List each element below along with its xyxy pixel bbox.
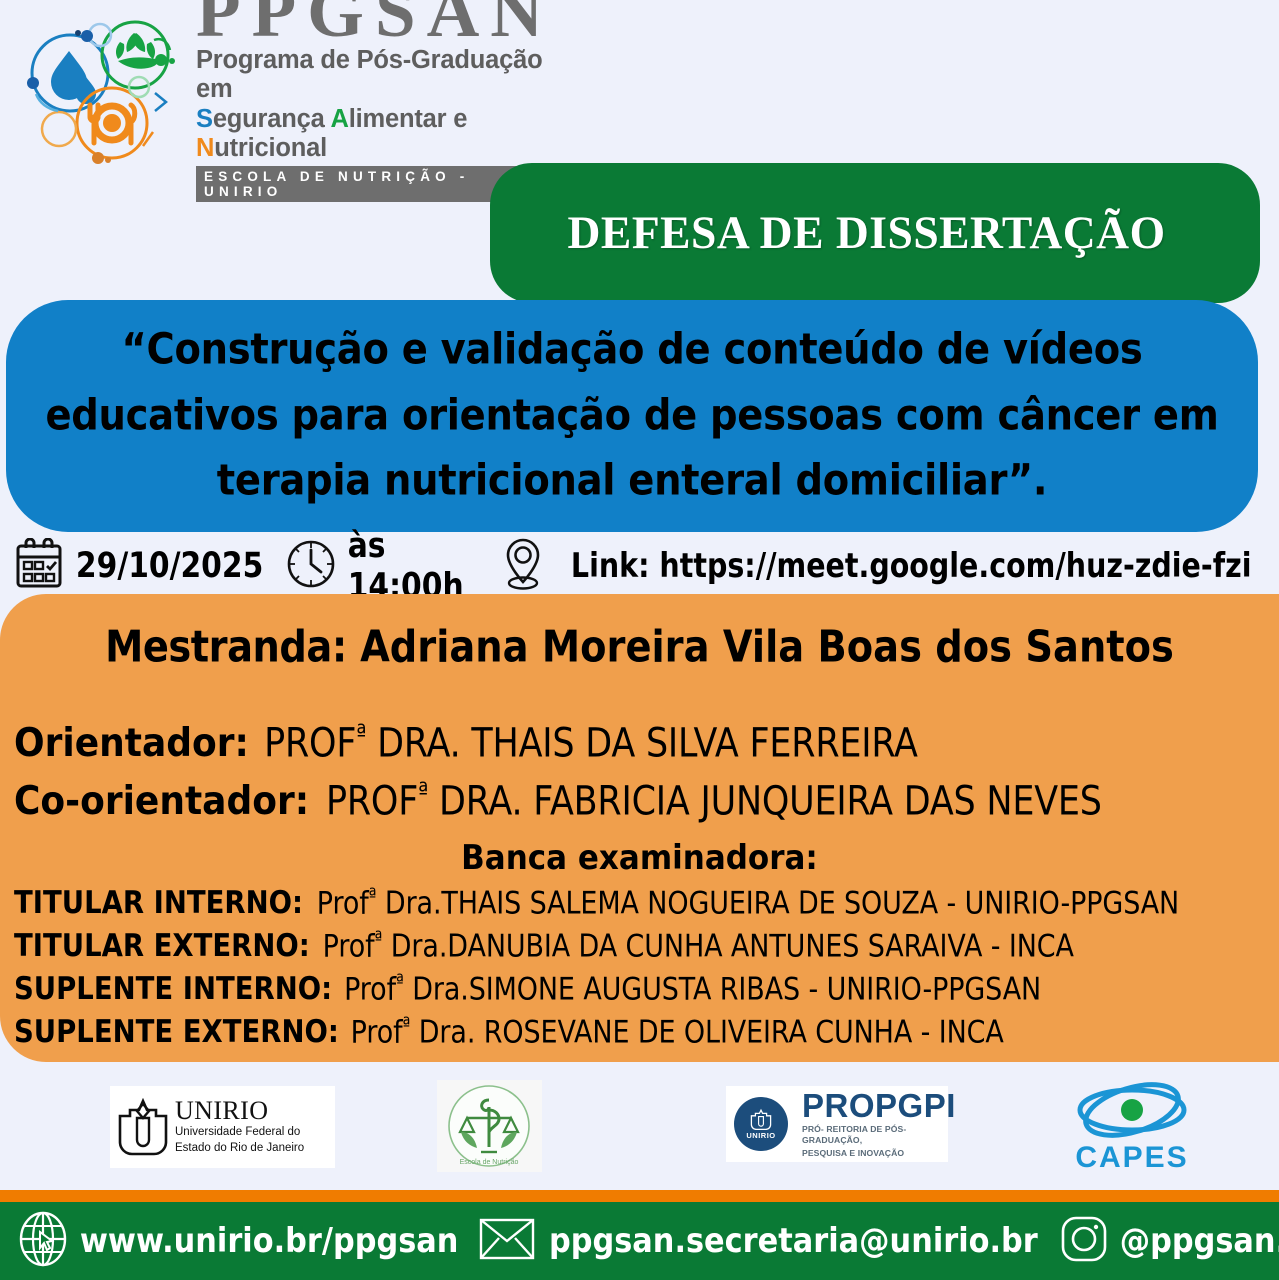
website-url[interactable]: www.unirio.br/ppgsan (80, 1222, 459, 1261)
ppgsan-line2: Segurança Alimentar e Nutricional (196, 105, 554, 164)
capes-emblem-icon (1062, 1080, 1202, 1140)
instagram-icon (1059, 1213, 1109, 1270)
committee-member-row: TITULAR INTERNO: Profª Dra.THAIS SALEMA … (14, 887, 1269, 919)
globe-icon (16, 1210, 70, 1273)
co-advisor-label: Co-orientador: (14, 779, 309, 824)
date-group: 29/10/2025 (14, 538, 267, 595)
unirio-sub2: Estado do Rio de Janeiro (175, 1142, 304, 1156)
capes-logo: CAPES (1062, 1080, 1202, 1172)
unirio-sub1: Universidade Federal do (175, 1126, 304, 1140)
envelope-icon (478, 1215, 536, 1268)
unirio-name: UNIRIO (175, 1098, 304, 1124)
committee-role-label: SUPLENTE INTERNO: (14, 971, 332, 1007)
ppgsan-acronym: PPGSAN (196, 0, 554, 46)
svg-text:Escola de Nutrição: Escola de Nutrição (460, 1159, 519, 1166)
instagram-handle[interactable]: @ppgsan.unirio (1120, 1222, 1279, 1261)
meeting-link[interactable]: Link: https://meet.google.com/huz-zdie-f… (571, 546, 1252, 585)
committee-heading: Banca examinadora: (0, 838, 1279, 878)
committee-member-row: SUPLENTE INTERNO: Profª Dra.SIMONE AUGUS… (14, 973, 1269, 1005)
dissertation-title-banner: “Construção e validação de conteúdo de v… (6, 300, 1258, 532)
co-advisor-name: PROFª DRA. FABRICIA JUNQUEIRA DAS NEVES (326, 777, 1102, 824)
ppgsan-wordmark: PPGSAN Programa de Pós-Graduação em Segu… (196, 0, 554, 202)
advisor-label: Orientador: (14, 721, 249, 766)
co-advisor-line: Co-orientador: PROFª DRA. FABRICIA JUNQU… (14, 780, 1269, 822)
committee-role-label: TITULAR INTERNO: (14, 885, 303, 921)
student-line: Mestranda: Adriana Moreira Vila Boas dos… (26, 622, 1254, 673)
propgpi-sub1: PRÓ- REITORIA DE PÓS-GRADUAÇÃO, (802, 1124, 956, 1145)
committee-role-label: TITULAR EXTERNO: (14, 928, 310, 964)
poster-canvas: PPGSAN Programa de Pós-Graduação em Segu… (0, 0, 1279, 1280)
time-group: às 14:00h (285, 530, 480, 602)
calendar-icon (14, 538, 64, 595)
propgpi-sub2: PESQUISA E INOVAÇÃO (802, 1148, 956, 1158)
contact-footer: www.unirio.br/ppgsan ppgsan.secretaria@u… (0, 1202, 1279, 1280)
propgpi-name: PROPGPI (802, 1090, 956, 1121)
advisor-name: PROFª DRA. THAIS DA SILVA FERREIRA (264, 719, 918, 766)
instagram-group[interactable]: @ppgsan.unirio (1059, 1213, 1279, 1270)
event-meta-row: 29/10/2025 às 14:00h (14, 538, 1269, 594)
ppgsan-logo: PPGSAN Programa de Pós-Graduação em Segu… (14, 12, 514, 167)
unirio-logo: UNIRIO Universidade Federal do Estado do… (110, 1086, 335, 1168)
propgpi-logo: UNIRIO PROPGPI PRÓ- REITORIA DE PÓS-GRAD… (726, 1086, 948, 1162)
committee-member-name: Profª Dra. ROSEVANE DE OLIVEIRA CUNHA - … (351, 1014, 1004, 1051)
email-address[interactable]: ppgsan.secretaria@unirio.br (549, 1222, 1038, 1261)
advisor-line: Orientador: PROFª DRA. THAIS DA SILVA FE… (14, 722, 1269, 764)
defense-date: 29/10/2025 (76, 546, 263, 586)
committee-member-row: SUPLENTE EXTERNO: Profª Dra. ROSEVANE DE… (14, 1016, 1269, 1048)
committee-role-label: SUPLENTE EXTERNO: (14, 1014, 339, 1050)
committee-member-name: Profª Dra.DANUBIA DA CUNHA ANTUNES SARAI… (322, 928, 1073, 965)
ppgsan-line1: Programa de Pós-Graduação em (196, 46, 554, 105)
ppgsan-emblem-icon (14, 15, 190, 165)
student-label: Mestranda: (105, 622, 347, 673)
link-group[interactable]: Link: https://meet.google.com/huz-zdie-f… (501, 537, 1269, 596)
propgpi-wordmark: PROPGPI PRÓ- REITORIA DE PÓS-GRADUAÇÃO, … (802, 1090, 956, 1158)
propgpi-seal-icon: UNIRIO (734, 1097, 788, 1151)
unirio-wordmark: UNIRIO Universidade Federal do Estado do… (175, 1098, 304, 1155)
footer-accent-strip (0, 1190, 1279, 1202)
unirio-emblem-icon (116, 1098, 170, 1156)
details-panel: Mestranda: Adriana Moreira Vila Boas dos… (0, 594, 1279, 1062)
committee-member-row: TITULAR EXTERNO: Profª Dra.DANUBIA DA CU… (14, 930, 1269, 962)
clock-icon (285, 538, 337, 595)
defense-type-banner: DEFESA DE DISSERTAÇÃO (490, 163, 1260, 303)
propgpi-seal-label: UNIRIO (746, 1131, 775, 1140)
capes-name: CAPES (1062, 1141, 1202, 1175)
committee-member-name: Profª Dra.THAIS SALEMA NOGUEIRA DE SOUZA… (317, 885, 1179, 922)
dissertation-title: “Construção e validação de conteúdo de v… (37, 318, 1227, 515)
email-group[interactable]: ppgsan.secretaria@unirio.br (478, 1215, 1043, 1268)
location-pin-icon (501, 537, 545, 596)
website-group[interactable]: www.unirio.br/ppgsan (16, 1210, 462, 1273)
student-name: Adriana Moreira Vila Boas dos Santos (360, 622, 1174, 673)
escola-nutricao-logo: Escola de Nutrição (437, 1080, 542, 1172)
committee-member-name: Profª Dra.SIMONE AUGUSTA RIBAS - UNIRIO-… (344, 971, 1041, 1008)
defense-type-label: DEFESA DE DISSERTAÇÃO (567, 206, 1182, 260)
